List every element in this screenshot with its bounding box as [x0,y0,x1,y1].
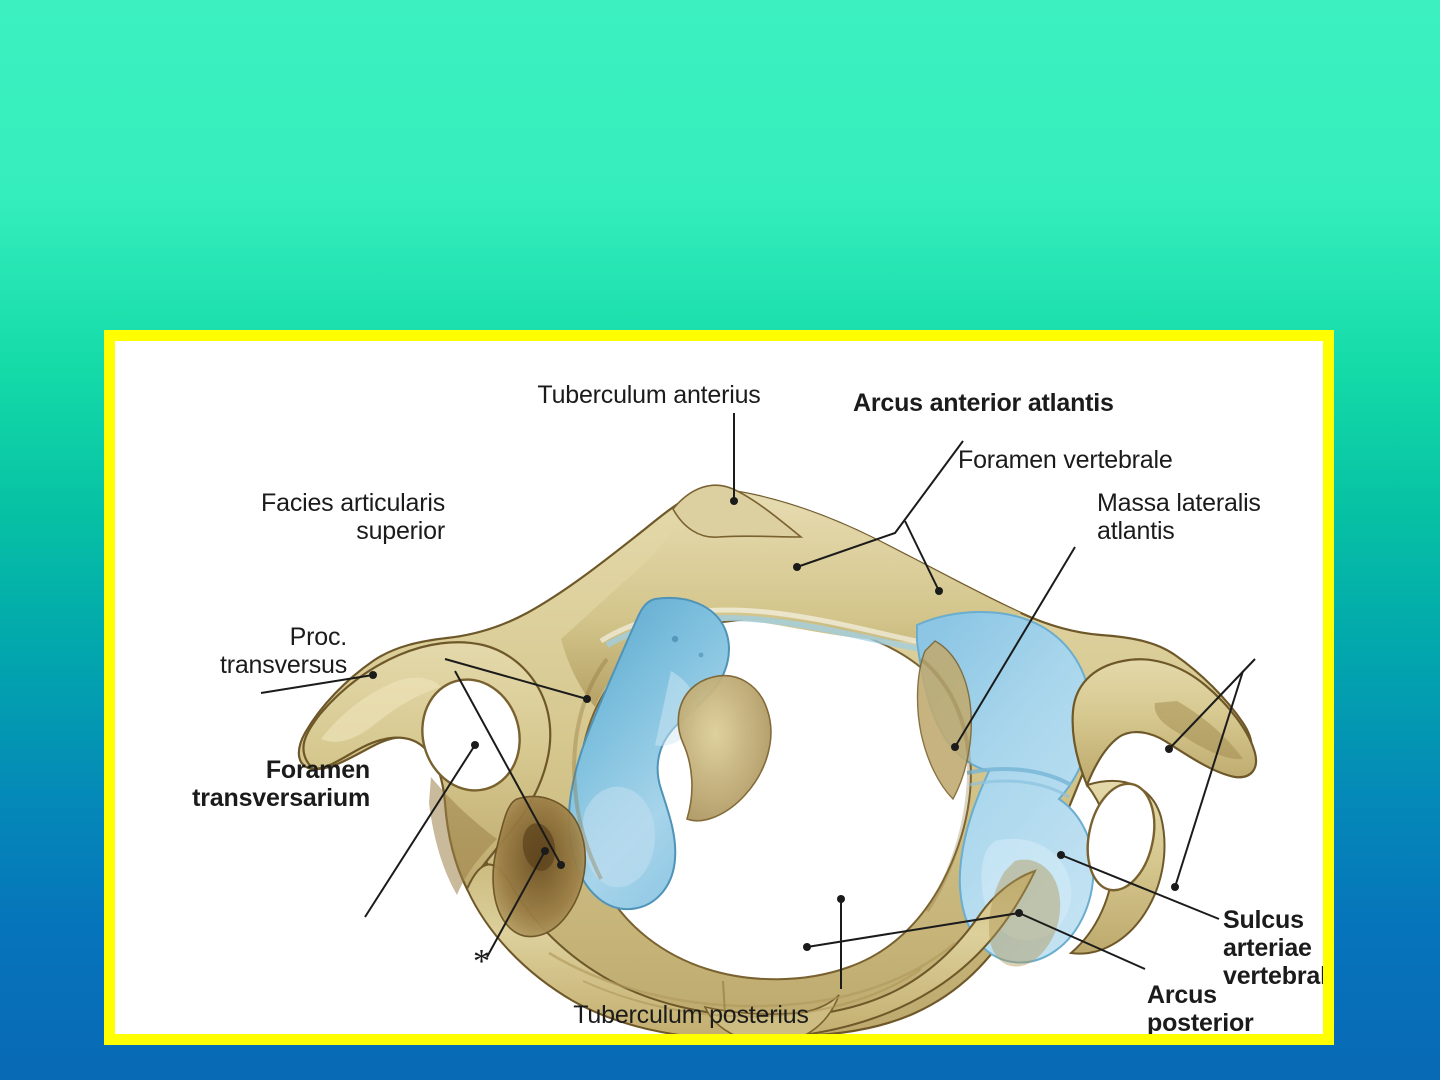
leader-dot [541,847,549,855]
label-tuberculum-anterius: Tuberculum anterius [499,381,799,409]
facet-speckle [672,636,678,642]
figure-canvas: Tuberculum anterius Arcus anterior atlan… [115,341,1323,1034]
facet-left-lower-highlight [582,787,655,888]
leader-dot [730,497,738,505]
facet-speckle [699,653,704,658]
label-arcus-anterior-atlantis: Arcus anterior atlantis [853,389,1114,417]
asterisk-marker: * [473,945,490,979]
leader-dot [1171,883,1179,891]
leader-dot [951,743,959,751]
leader-dot [557,861,565,869]
label-arcus-posterior-atlantis: Arcus posterior atlantis [1147,981,1323,1034]
atlas-vertebra-illustration [115,341,1323,1034]
leader-dot [1165,745,1173,753]
leader-dot [935,587,943,595]
label-tuberculum-posterius: Tuberculum posterius [513,1001,869,1029]
label-foramen-vertebrale: Foramen vertebrale [958,446,1173,474]
slide-stage: Tuberculum anterius Arcus anterior atlan… [0,0,1440,1080]
leader-dot [471,741,479,749]
leader-dot [793,563,801,571]
label-proc-transversus: Proc. transversus [115,623,347,679]
label-sulcus-arteriae-vertebralis: Sulcus arteriae vertebralis [1223,906,1323,990]
leader-dot [583,695,591,703]
leader-dot [837,895,845,903]
label-foramen-transversarium: Foramen transversarium [115,756,370,812]
leader-dot [1057,851,1065,859]
atlas-bone-body [299,485,1256,1034]
leader-dot [803,943,811,951]
label-facies-articularis-superior: Facies articularis superior [125,489,445,545]
yellow-frame-border: Tuberculum anterius Arcus anterior atlan… [104,330,1334,1045]
leader-dot [369,671,377,679]
label-massa-lateralis-atlantis: Massa lateralis atlantis [1097,489,1261,545]
